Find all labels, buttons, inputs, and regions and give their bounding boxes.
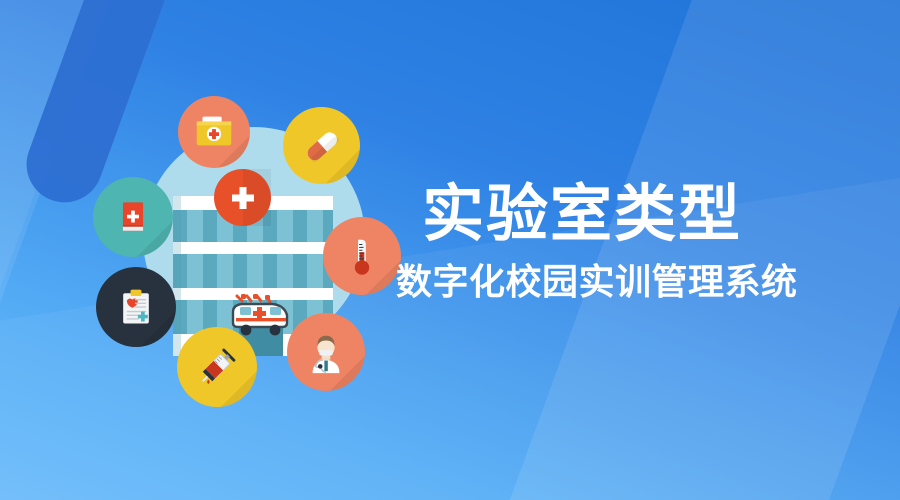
pill-capsule-icon[interactable]	[283, 107, 360, 184]
thermometer-icon[interactable]	[323, 217, 401, 295]
medical-book-icon[interactable]	[93, 177, 173, 257]
doctor-avatar-icon[interactable]	[287, 313, 365, 391]
page-subtitle: 数字化校园实训管理系统	[396, 261, 862, 302]
cross-icon	[228, 183, 258, 213]
medical-cross-badge	[214, 169, 271, 226]
banner-text-block: 实验室类型 数字化校园实训管理系统	[422, 182, 862, 302]
lab-type-banner: 实验室类型 数字化校园实训管理系统	[0, 0, 900, 500]
medical-folder-icon[interactable]	[178, 96, 250, 168]
page-title: 实验室类型	[422, 182, 862, 247]
medical-icon-cluster	[85, 85, 395, 405]
ambulance-illustration	[227, 292, 293, 339]
clipboard-record-icon[interactable]	[96, 267, 176, 347]
